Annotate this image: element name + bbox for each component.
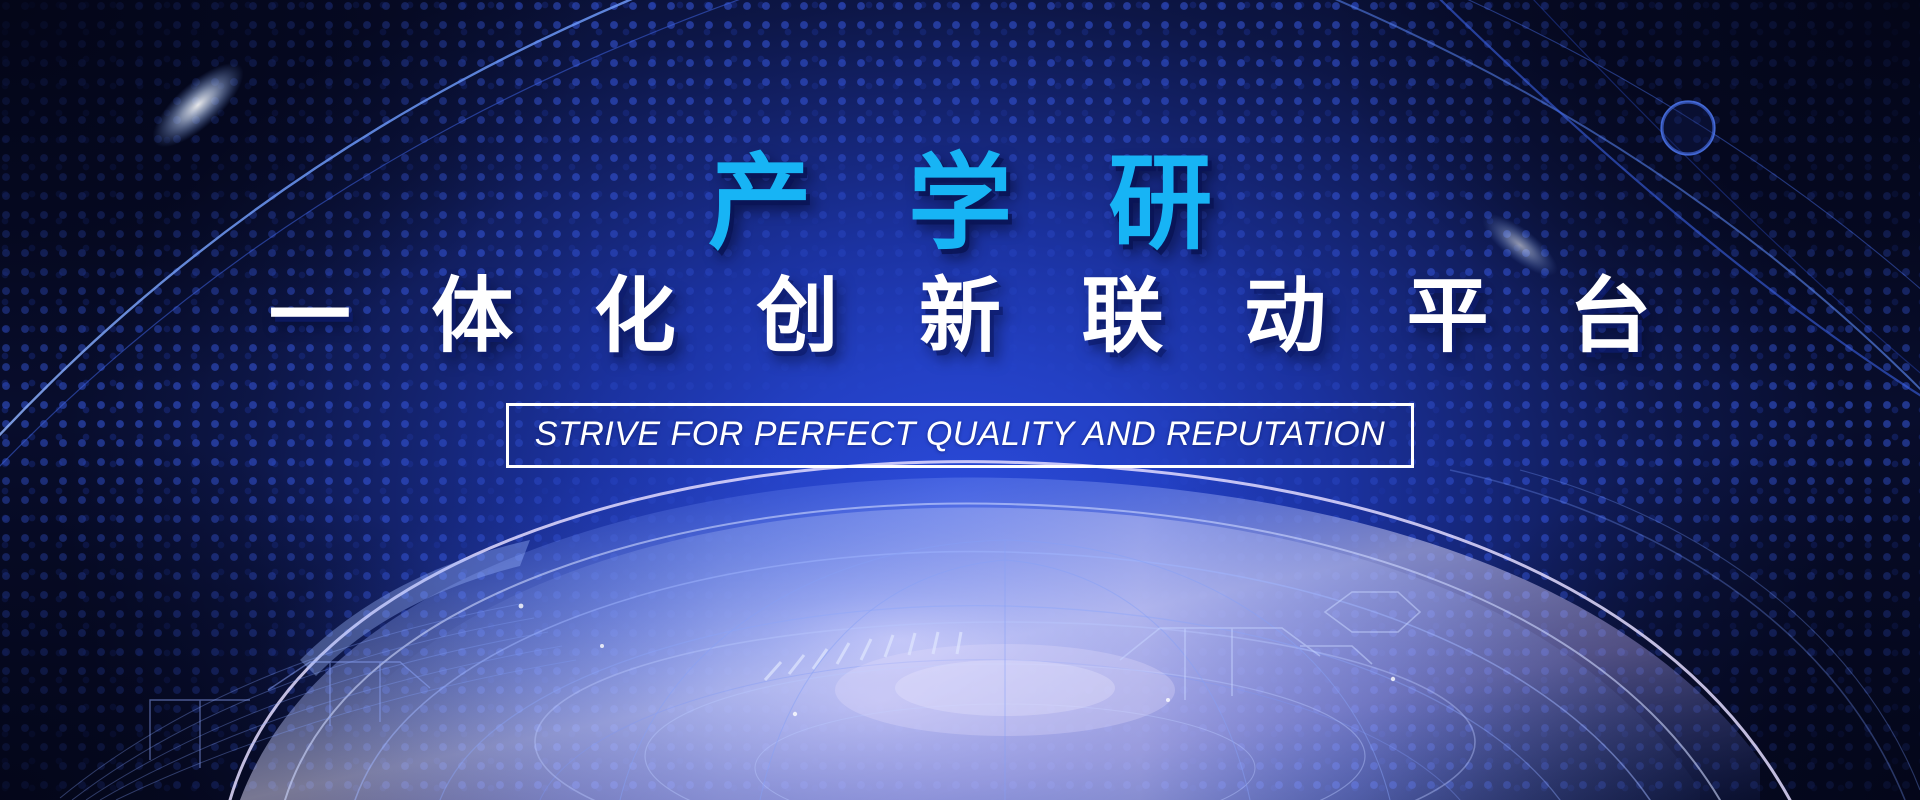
dot-matrix-pattern — [0, 0, 1920, 800]
background-gradient — [0, 0, 1920, 800]
glint-dots — [519, 604, 1396, 717]
slogan-box: STRIVE FOR PERFECT QUALITY AND REPUTATIO… — [506, 403, 1414, 468]
slogan-text: STRIVE FOR PERFECT QUALITY AND REPUTATIO… — [535, 415, 1385, 454]
arc-spark-glow — [140, 50, 256, 160]
tech-decoration-graphics — [0, 0, 1920, 800]
orbit-arc-right-lower — [1450, 470, 1920, 800]
banner-content: 产 学 研 一 体 化 创 新 联 动 平 台 STRIVE FOR PERFE… — [0, 0, 1920, 800]
arc-spark-glow-right — [1474, 204, 1566, 286]
banner-title-main: 产 学 研 — [678, 150, 1242, 256]
circuit-lines-left — [150, 662, 430, 768]
corner-vignette — [0, 0, 1920, 800]
arrow-shard-left — [300, 540, 530, 676]
tech-globe-graphic — [60, 440, 1790, 800]
banner-title-sub: 一 体 化 创 新 联 动 平 台 — [243, 274, 1677, 359]
orbit-arc-group — [0, 0, 1920, 800]
raster-lines — [60, 604, 576, 800]
circle-node-icon — [1662, 102, 1714, 154]
dot-matrix-pattern-fine — [0, 0, 1920, 800]
circuit-lines-right — [1120, 592, 1420, 700]
dial-tick-marks — [765, 632, 961, 680]
banner-stage: 产 学 研 一 体 化 创 新 联 动 平 台 STRIVE FOR PERFE… — [0, 0, 1920, 800]
